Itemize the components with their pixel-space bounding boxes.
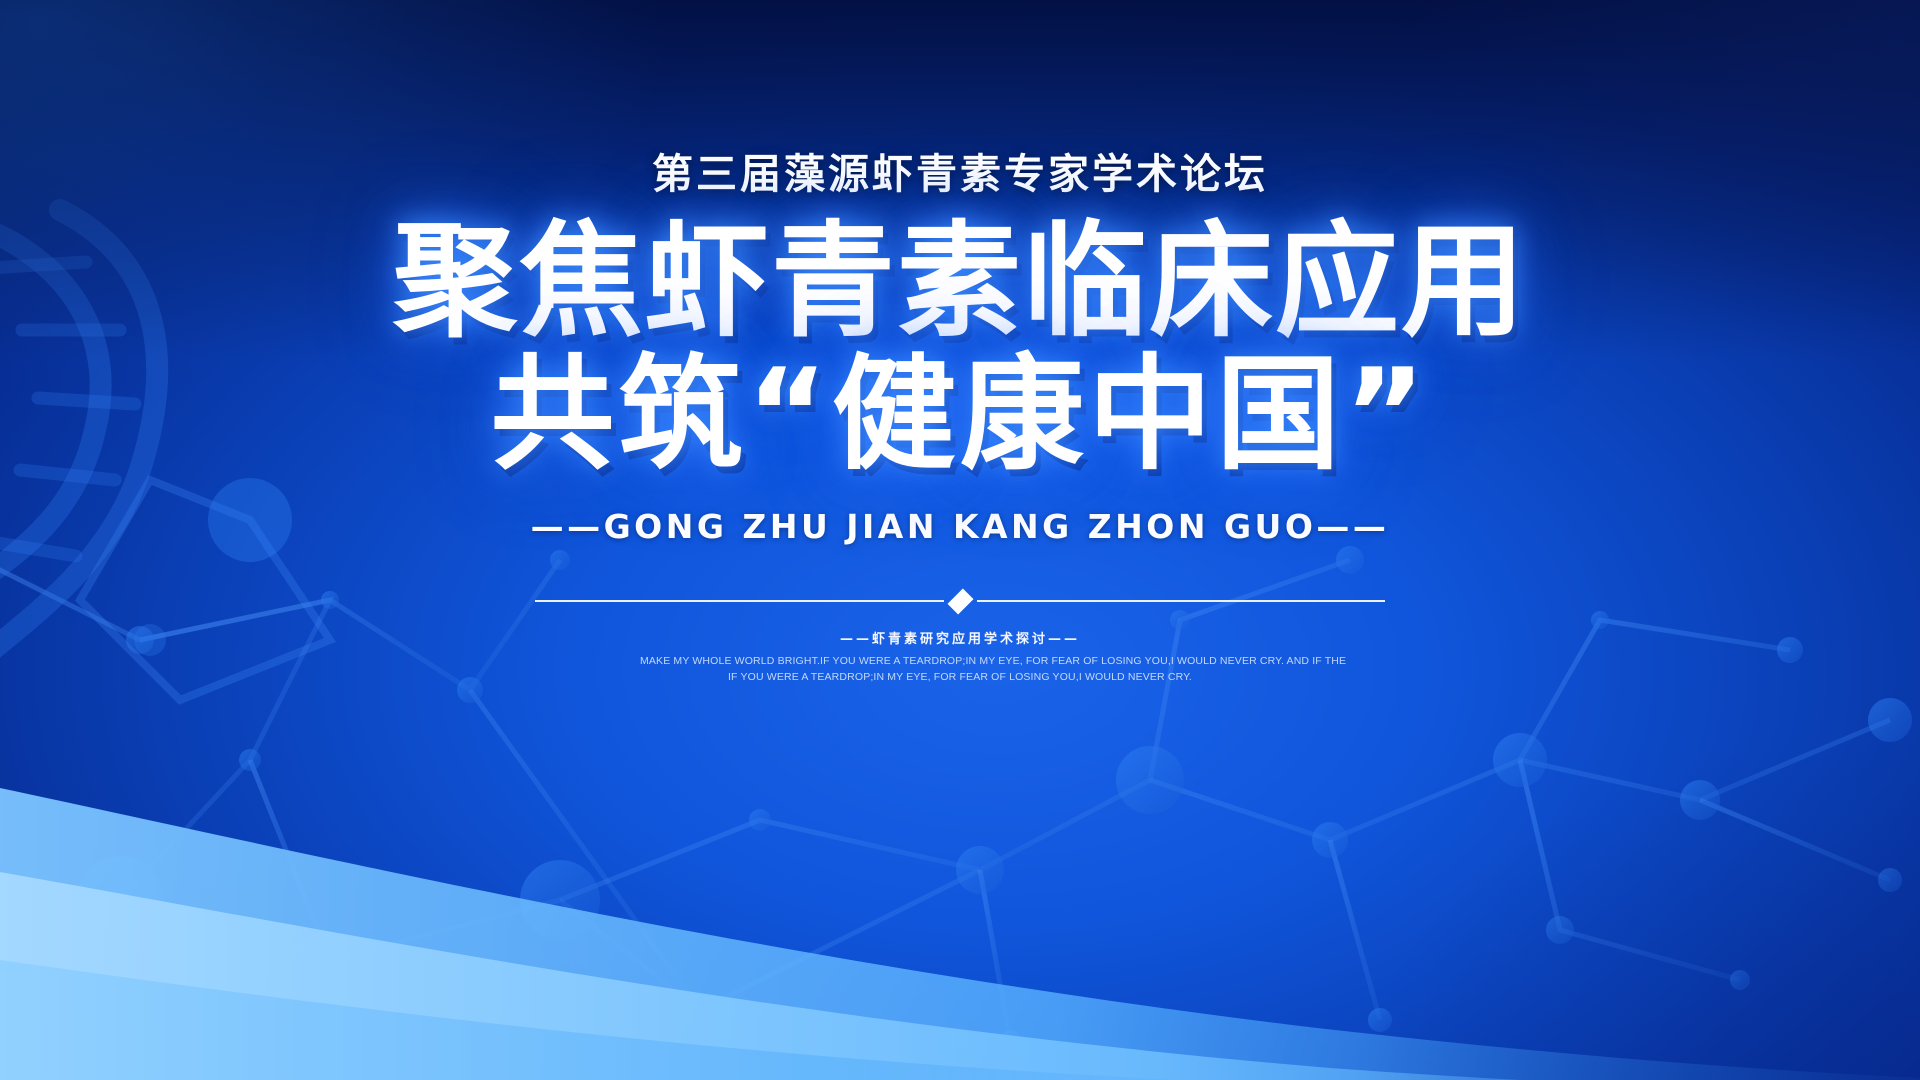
corner-vignette	[0, 0, 1920, 1080]
divider-rule-right	[977, 600, 1386, 602]
divider-rule-left	[535, 600, 944, 602]
divider	[535, 588, 1385, 614]
diamond-icon	[947, 588, 973, 614]
top-vignette	[0, 0, 1920, 360]
topic-caption: ——虾青素研究应用学术探讨——	[840, 628, 1080, 647]
fineprint-line-1: MAKE MY WHOLE WORLD BRIGHT.IF YOU WERE A…	[640, 654, 1280, 670]
title-line-2: 共筑“健康中国”	[393, 349, 1527, 482]
fineprint: MAKE MY WHOLE WORLD BRIGHT.IF YOU WERE A…	[640, 654, 1280, 686]
main-title: 聚焦虾青素临床应用 共筑“健康中国”	[393, 216, 1527, 481]
pinyin-subtitle: ——GONG ZHU JIAN KANG ZHON GUO——	[531, 507, 1390, 546]
dna-helix-icon	[0, 0, 1920, 1080]
molecule-network-icon	[0, 0, 1920, 1080]
wave-band-shape	[0, 660, 1920, 1080]
event-series-label: 第三届藻源虾青素专家学术论坛	[652, 140, 1268, 200]
poster-content: 第三届藻源虾青素专家学术论坛 聚焦虾青素临床应用 共筑“健康中国” ——GONG…	[0, 0, 1920, 1080]
fineprint-line-2: IF YOU WERE A TEARDROP;IN MY EYE, FOR FE…	[640, 670, 1280, 686]
poster-canvas: 第三届藻源虾青素专家学术论坛 聚焦虾青素临床应用 共筑“健康中国” ——GONG…	[0, 0, 1920, 1080]
title-line-1: 聚焦虾青素临床应用	[393, 216, 1527, 349]
